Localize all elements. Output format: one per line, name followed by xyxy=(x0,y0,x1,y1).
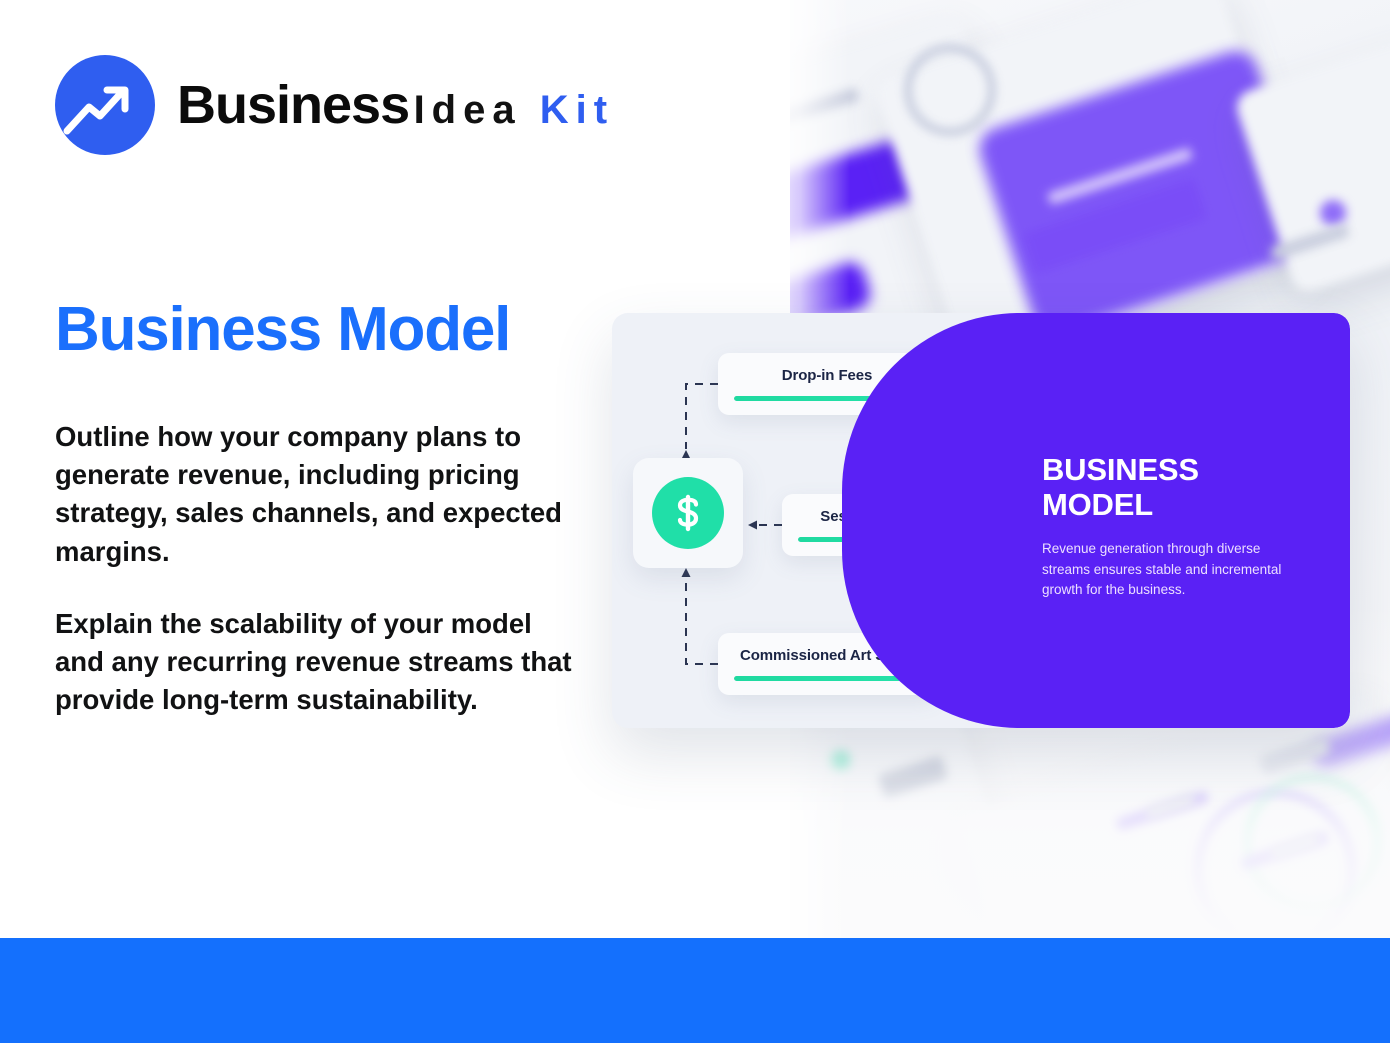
body-paragraph-1: Outline how your company plans to genera… xyxy=(55,418,585,571)
brand-logo: Business Idea Kit xyxy=(55,55,614,155)
panel-title-line-2: MODEL xyxy=(1042,488,1304,523)
panel-title-line-1: BUSINESS xyxy=(1042,453,1304,488)
node-label: Drop-in Fees xyxy=(782,367,872,384)
slide-root: Business Idea Kit Business Model Outline… xyxy=(0,0,1390,1043)
business-model-summary-panel: BUSINESS MODEL Revenue generation throug… xyxy=(1020,313,1350,728)
logo-wordmark-primary: Business xyxy=(177,75,409,135)
business-model-infographic-card: Drop-in Fees Session Workshops Commissio… xyxy=(612,313,1350,728)
node-progress-bar xyxy=(734,676,920,681)
central-revenue-node[interactable] xyxy=(633,458,743,568)
body-copy: Outline how your company plans to genera… xyxy=(55,418,585,720)
growth-chart-arrow-icon xyxy=(55,55,155,155)
panel-description: Revenue generation through diverse strea… xyxy=(1042,539,1304,601)
dollar-sign-icon xyxy=(652,477,724,549)
body-paragraph-2: Explain the scalability of your model an… xyxy=(55,605,585,720)
logo-wordmark-accent: Kit xyxy=(540,88,614,132)
panel-title: BUSINESS MODEL xyxy=(1042,453,1304,522)
logo-wordmark-secondary: Idea xyxy=(414,88,522,132)
footer-bar xyxy=(0,938,1390,1043)
page-title: Business Model xyxy=(55,297,510,362)
